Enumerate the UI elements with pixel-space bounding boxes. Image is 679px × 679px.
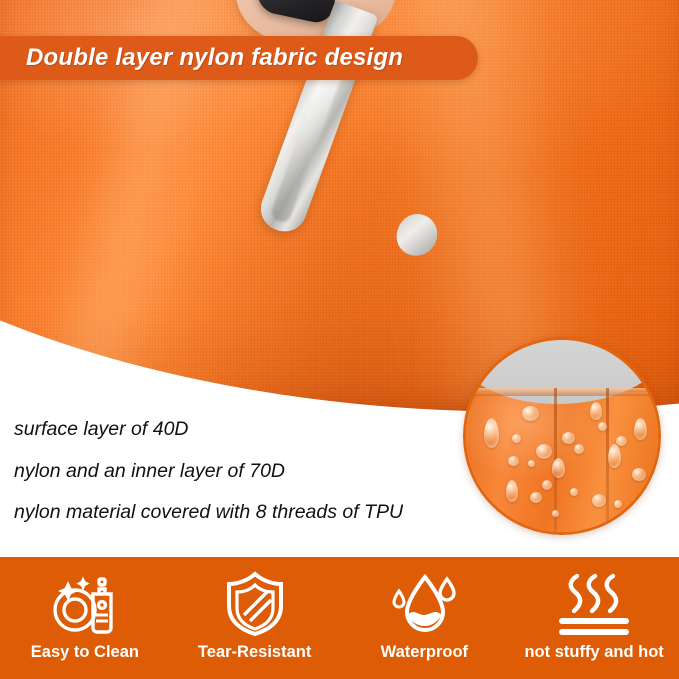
body-copy-line-3: nylon material covered with 8 threads of…	[14, 503, 484, 523]
water-droplet	[614, 500, 622, 508]
body-copy-line-1: surface layer of 40D	[14, 420, 484, 440]
water-droplet	[552, 458, 565, 478]
water-droplet	[574, 444, 584, 454]
feature-bar: Easy to Clean Tear-Resistant	[0, 557, 679, 679]
water-droplet	[562, 432, 575, 444]
feature-label: Tear-Resistant	[198, 643, 311, 662]
water-droplet	[592, 494, 606, 507]
water-droplet	[506, 480, 518, 502]
inset-fabric-edge	[466, 388, 661, 396]
water-droplet	[608, 444, 621, 468]
water-droplet	[530, 492, 542, 503]
water-droplet	[508, 456, 519, 466]
headline-text: Double layer nylon fabric design	[26, 44, 403, 72]
water-droplet-icon	[389, 569, 459, 639]
water-droplet	[528, 460, 535, 467]
water-droplet	[552, 510, 559, 517]
water-droplet	[616, 436, 627, 446]
water-droplet	[522, 406, 539, 421]
water-droplet	[590, 402, 602, 420]
feature-breathable: not stuffy and hot	[509, 557, 679, 662]
feature-easy-to-clean: Easy to Clean	[0, 557, 170, 662]
water-droplet	[598, 422, 607, 431]
headline-banner: Double layer nylon fabric design	[0, 36, 478, 80]
dish-soap-sparkle-icon	[49, 569, 121, 639]
water-droplet	[536, 444, 552, 459]
feature-label: not stuffy and hot	[524, 643, 663, 662]
water-droplet	[632, 468, 646, 481]
steam-breathable-icon	[556, 569, 632, 639]
water-droplet	[512, 434, 521, 443]
water-droplet	[484, 418, 499, 448]
water-droplet	[634, 418, 647, 440]
water-droplet	[542, 480, 552, 490]
feature-label: Easy to Clean	[31, 643, 139, 662]
water-droplet	[570, 488, 578, 496]
waterproof-closeup-inset	[463, 337, 661, 535]
product-feature-graphic: Double layer nylon fabric design surface…	[0, 0, 679, 679]
feature-tear-resistant: Tear-Resistant	[170, 557, 340, 662]
shield-icon	[224, 569, 286, 639]
body-copy: surface layer of 40D nylon and an inner …	[14, 420, 484, 545]
feature-label: Waterproof	[381, 643, 468, 662]
feature-waterproof: Waterproof	[340, 557, 510, 662]
body-copy-line-2: nylon and an inner layer of 70D	[14, 462, 484, 482]
